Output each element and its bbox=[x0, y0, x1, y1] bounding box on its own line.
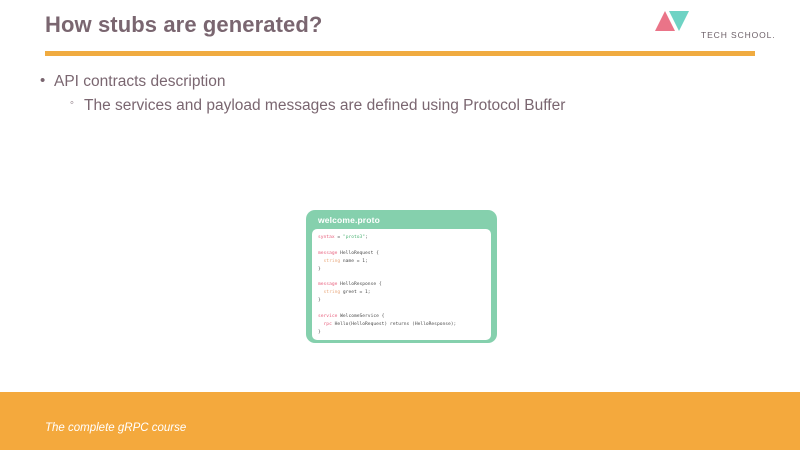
code-line bbox=[318, 242, 485, 250]
code-line: rpc Hello(HelloRequest) returns (HelloRe… bbox=[318, 321, 485, 329]
code-line: } bbox=[318, 266, 485, 274]
code-token: message bbox=[318, 251, 337, 256]
code-card-filename: welcome.proto bbox=[312, 215, 491, 229]
code-token: string bbox=[318, 290, 340, 295]
footer-label: The complete gRPC course bbox=[45, 422, 186, 434]
code-line: syntax = "proto3"; bbox=[318, 234, 485, 242]
list-item-label: API contracts description bbox=[54, 72, 225, 91]
brand-logo: TECH SCHOOL. bbox=[655, 11, 765, 43]
code-token: greet = 1; bbox=[340, 290, 370, 295]
code-token: WelcomeService { bbox=[337, 314, 384, 319]
page-title: How stubs are generated? bbox=[45, 12, 322, 38]
logo-wordmark: TECH SCHOOL. bbox=[701, 30, 776, 40]
code-token: string bbox=[318, 259, 340, 264]
code-token: message bbox=[318, 282, 337, 287]
code-line: message HelloRequest { bbox=[318, 250, 485, 258]
code-line: } bbox=[318, 297, 485, 305]
footer-bar bbox=[0, 392, 800, 450]
code-token: service bbox=[318, 314, 337, 319]
code-token: name = 1; bbox=[340, 259, 368, 264]
list-item: ◦ The services and payload messages are … bbox=[70, 96, 740, 115]
code-token: rpc bbox=[318, 322, 332, 327]
code-block: syntax = "proto3";message HelloRequest {… bbox=[312, 229, 491, 340]
code-token: } bbox=[318, 267, 321, 272]
code-line: message HelloResponse { bbox=[318, 281, 485, 289]
code-token: } bbox=[318, 330, 321, 335]
list-item: • API contracts description bbox=[40, 72, 740, 91]
code-card: welcome.proto syntax = "proto3";message … bbox=[306, 210, 497, 343]
bullet-hollow-icon: ◦ bbox=[70, 96, 84, 112]
code-token: = bbox=[335, 235, 343, 240]
logo-triangles-icon bbox=[655, 11, 699, 31]
list-item-label: The services and payload messages are de… bbox=[84, 96, 565, 115]
code-token: "proto3" bbox=[343, 235, 365, 240]
title-underline-rule bbox=[45, 51, 755, 56]
code-line: service WelcomeService { bbox=[318, 313, 485, 321]
code-token: HelloRequest { bbox=[337, 251, 379, 256]
code-line: } bbox=[318, 329, 485, 337]
bullet-solid-icon: • bbox=[40, 72, 54, 91]
code-token: ; bbox=[365, 235, 368, 240]
code-line: string name = 1; bbox=[318, 258, 485, 266]
code-token: Hello(HelloRequest) returns (HelloRespon… bbox=[332, 322, 456, 327]
code-token: } bbox=[318, 298, 321, 303]
content-bullet-list: • API contracts description ◦ The servic… bbox=[40, 72, 740, 116]
code-token: syntax bbox=[318, 235, 335, 240]
code-line: string greet = 1; bbox=[318, 289, 485, 297]
slide-canvas: How stubs are generated? TECH SCHOOL. • … bbox=[0, 0, 800, 450]
code-line bbox=[318, 273, 485, 281]
code-token: HelloResponse { bbox=[337, 282, 381, 287]
code-line bbox=[318, 305, 485, 313]
